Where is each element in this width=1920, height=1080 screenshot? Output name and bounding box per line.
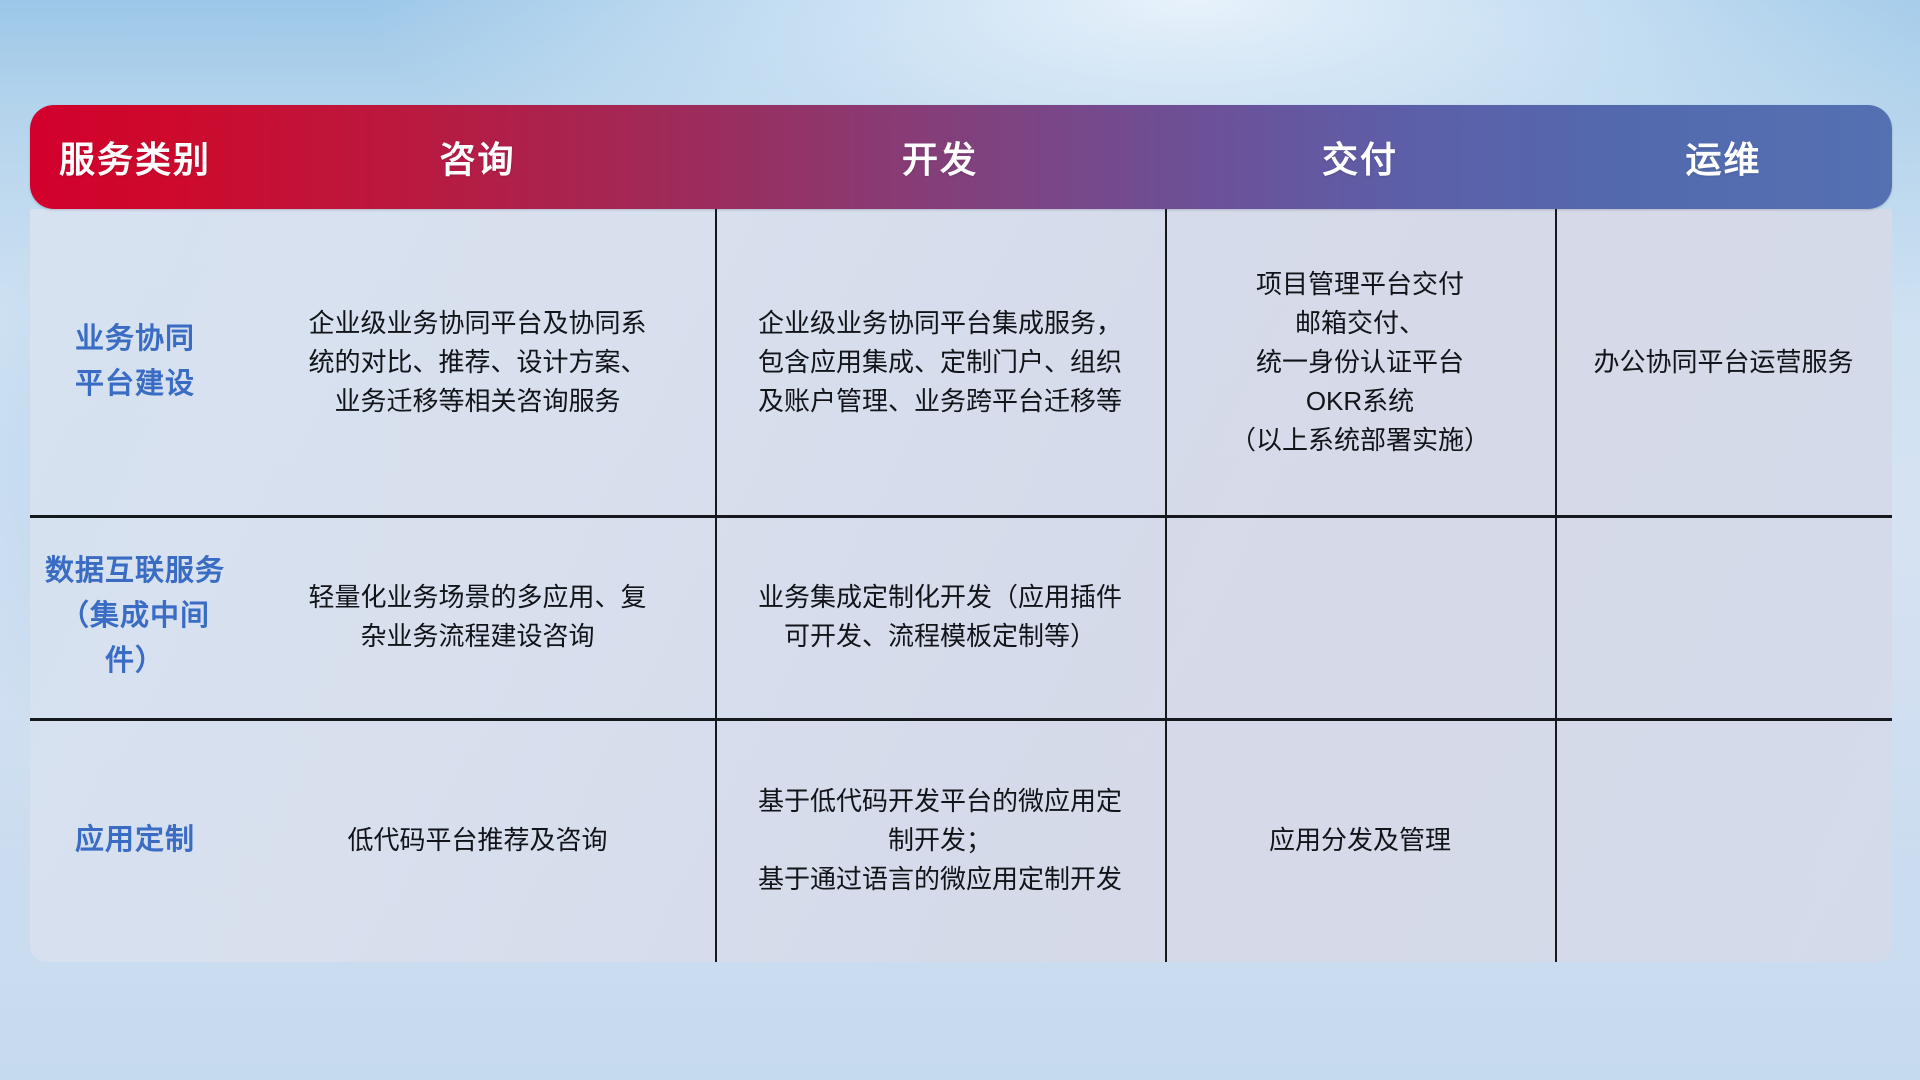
column-header-operations: 运维 [1555,131,1892,183]
table-row: 数据互联服务 （集成中间件） [30,515,240,718]
cell-text: 项目管理平台交付 邮箱交付、 统一身份认证平台 OKR系统 （以上系统部署实施） [1230,265,1490,460]
cell-text: 应用分发及管理 [1269,821,1451,860]
cell-delivery: 应用分发及管理 [1165,718,1555,962]
cell-text: 基于低代码开发平台的微应用定 制开发； 基于通过语言的微应用定制开发 [758,782,1122,899]
column-divider [1555,209,1557,962]
cell-development: 企业级业务协同平台集成服务， 包含应用集成、定制门户、组织 及账户管理、业务跨平… [715,209,1165,515]
cell-text: 低代码平台推荐及咨询 [347,821,607,860]
table-grid: 业务协同 平台建设 企业级业务协同平台及协同系 统的对比、推荐、设计方案、 业务… [30,209,1892,962]
cell-delivery [1165,515,1555,718]
cell-development: 基于低代码开发平台的微应用定 制开发； 基于通过语言的微应用定制开发 [715,718,1165,962]
table-header-row: 服务类别 咨询 开发 交付 运维 [30,105,1892,209]
row-category-label: 业务协同 平台建设 [75,317,195,407]
cell-operations [1555,718,1892,962]
cell-consulting: 轻量化业务场景的多应用、复 杂业务流程建设咨询 [240,515,715,718]
cell-text: 企业级业务协同平台集成服务， 包含应用集成、定制门户、组织 及账户管理、业务跨平… [758,304,1122,421]
service-category-table: 服务类别 咨询 开发 交付 运维 业务协同 平台建设 企业级业务协同平台及协同系… [30,105,1892,962]
cell-development: 业务集成定制化开发（应用插件 可开发、流程模板定制等） [715,515,1165,718]
cell-consulting: 企业级业务协同平台及协同系 统的对比、推荐、设计方案、 业务迁移等相关咨询服务 [240,209,715,515]
cell-text: 办公协同平台运营服务 [1593,343,1853,382]
cell-consulting: 低代码平台推荐及咨询 [240,718,715,962]
column-header-development: 开发 [715,131,1165,183]
cell-text: 企业级业务协同平台及协同系 统的对比、推荐、设计方案、 业务迁移等相关咨询服务 [308,304,646,421]
cell-text: 轻量化业务场景的多应用、复 杂业务流程建设咨询 [308,578,646,656]
row-divider [30,515,1892,518]
column-header-delivery: 交付 [1165,131,1555,183]
cell-text: 业务集成定制化开发（应用插件 可开发、流程模板定制等） [758,578,1122,656]
table-body: 业务协同 平台建设 企业级业务协同平台及协同系 统的对比、推荐、设计方案、 业务… [30,209,1892,962]
table-row: 业务协同 平台建设 [30,209,240,515]
cell-operations [1555,515,1892,718]
cell-operations: 办公协同平台运营服务 [1555,209,1892,515]
row-category-label: 应用定制 [75,818,195,863]
column-divider [715,209,717,962]
column-header-category: 服务类别 [30,131,240,183]
table-row: 应用定制 [30,718,240,962]
column-divider [1165,209,1167,962]
row-divider [30,718,1892,721]
row-category-label: 数据互联服务 （集成中间件） [44,549,226,684]
cell-delivery: 项目管理平台交付 邮箱交付、 统一身份认证平台 OKR系统 （以上系统部署实施） [1165,209,1555,515]
column-header-consulting: 咨询 [240,131,715,183]
